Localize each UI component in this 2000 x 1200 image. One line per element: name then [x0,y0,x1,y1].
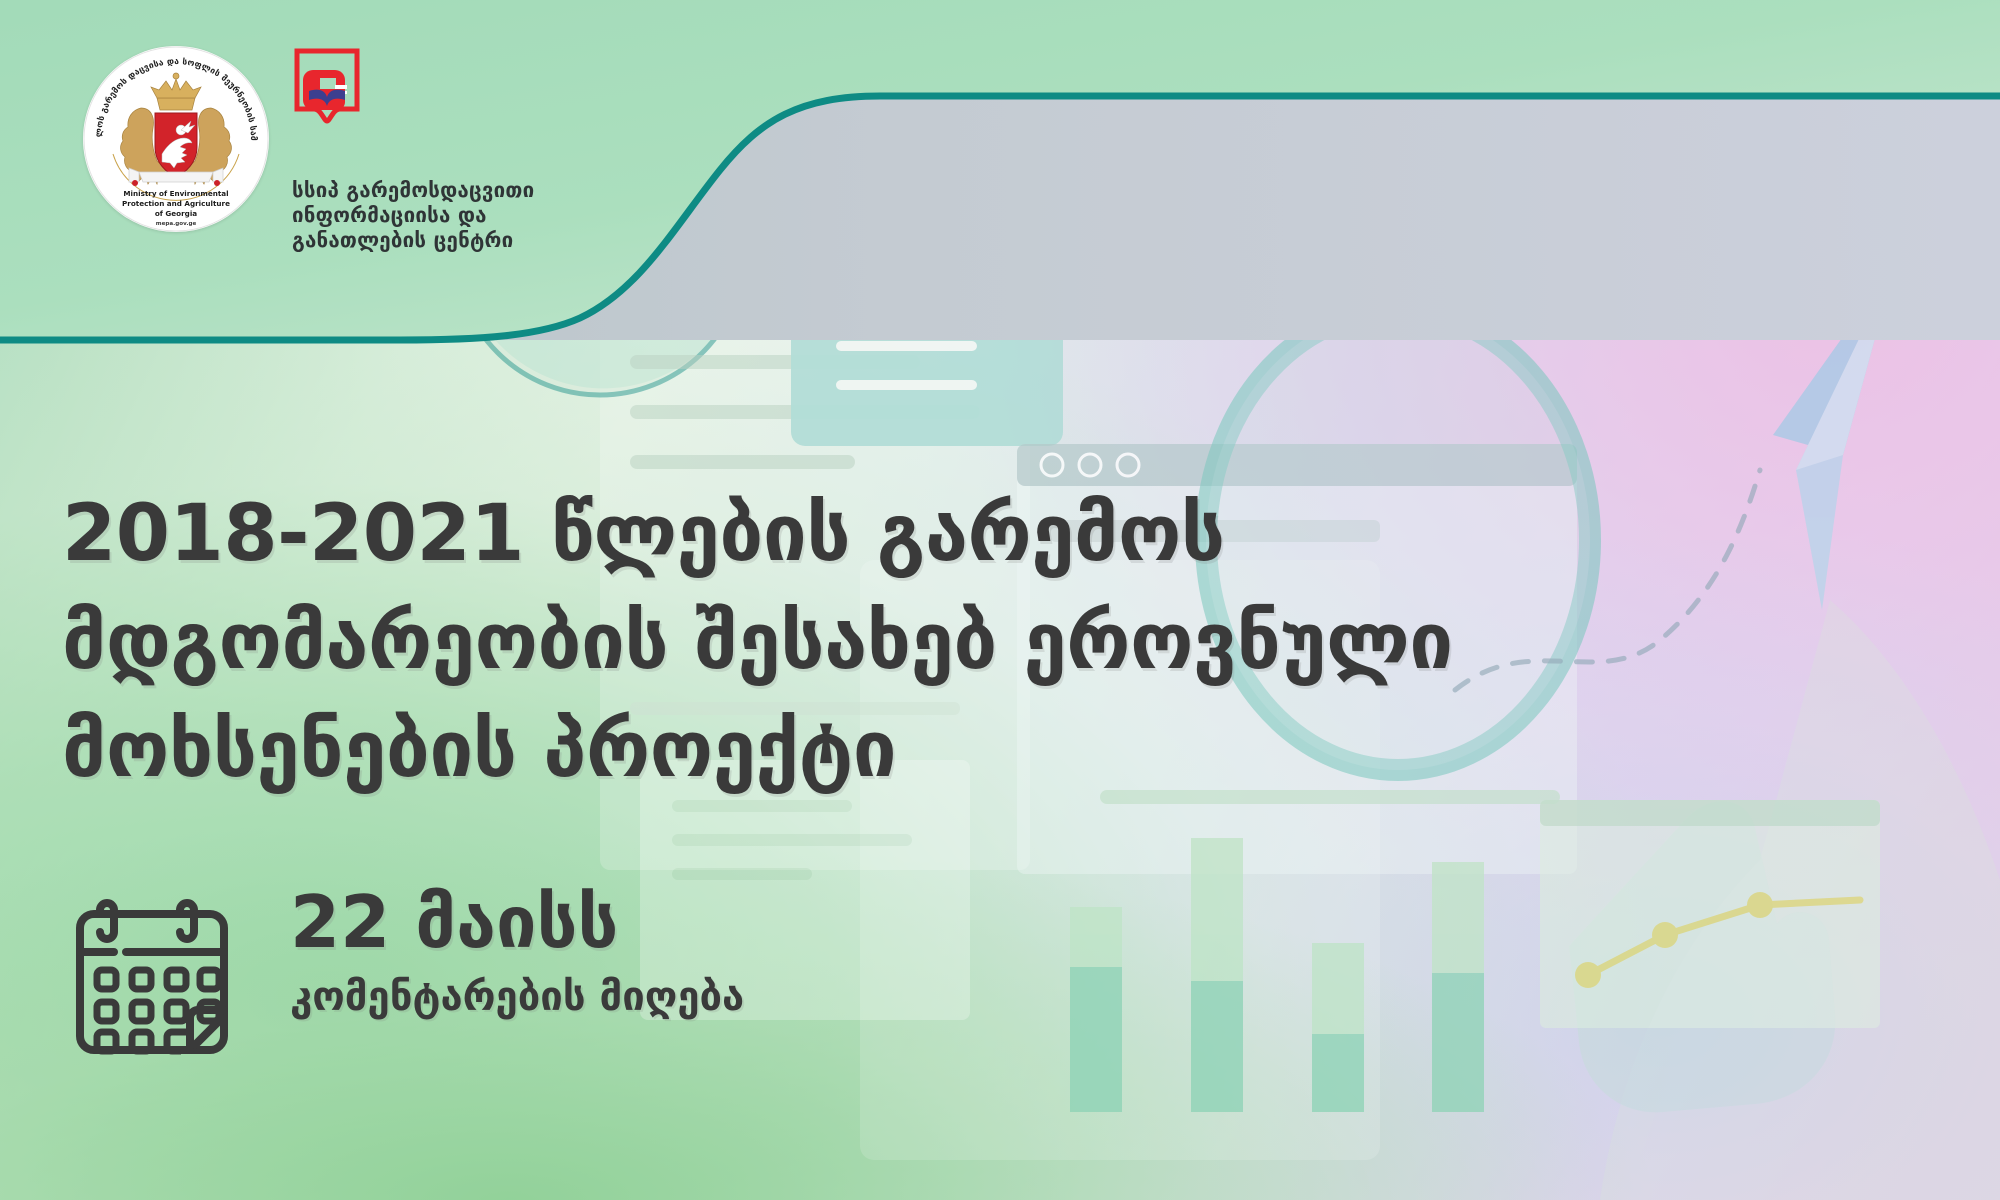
eiec-logo-label: სსიპ გარემოსდაცვითი ინფორმაციისა და განა… [292,178,582,253]
eiec-logo [293,47,361,139]
deadline-text: 22 მაისს კომენტარების მიღება [290,880,744,1020]
svg-text:mepa.gov.ge: mepa.gov.ge [156,221,197,227]
deadline-date: 22 მაისს [290,880,744,964]
deadline-caption: კომენტარების მიღება [290,974,744,1020]
decor-bar [1070,907,1122,1112]
decor-bar [1312,943,1364,1112]
ministry-seal-logo: საქართველოს გარემოს დაცვისა და სოფლის მე… [83,46,269,232]
page-title: 2018-2021 წლების გარემოს მდგომარეობის შე… [62,480,1902,804]
poster-canvas: საქართველოს გარემოს დაცვისა და სოფლის მე… [0,0,2000,1200]
svg-text:Protection and Agriculture: Protection and Agriculture [122,199,230,208]
decor-line-chart [1540,800,1880,1028]
svg-text:of Georgia: of Georgia [155,209,197,218]
logo-row: საქართველოს გარემოს დაცვისა და სოფლის მე… [0,0,700,280]
shield-book-icon [293,47,361,139]
deadline-block: 22 მაისს კომენტარების მიღება [62,880,962,1100]
calendar-glyph [62,890,242,1065]
decor-bar [1432,862,1484,1112]
coat-of-arms-icon: საქართველოს გარემოს დაცვისა და სოფლის მე… [83,46,269,232]
svg-text:Ministry of Environmental: Ministry of Environmental [123,189,228,198]
decor-bar [1191,838,1243,1112]
calendar-icon [62,890,242,1065]
